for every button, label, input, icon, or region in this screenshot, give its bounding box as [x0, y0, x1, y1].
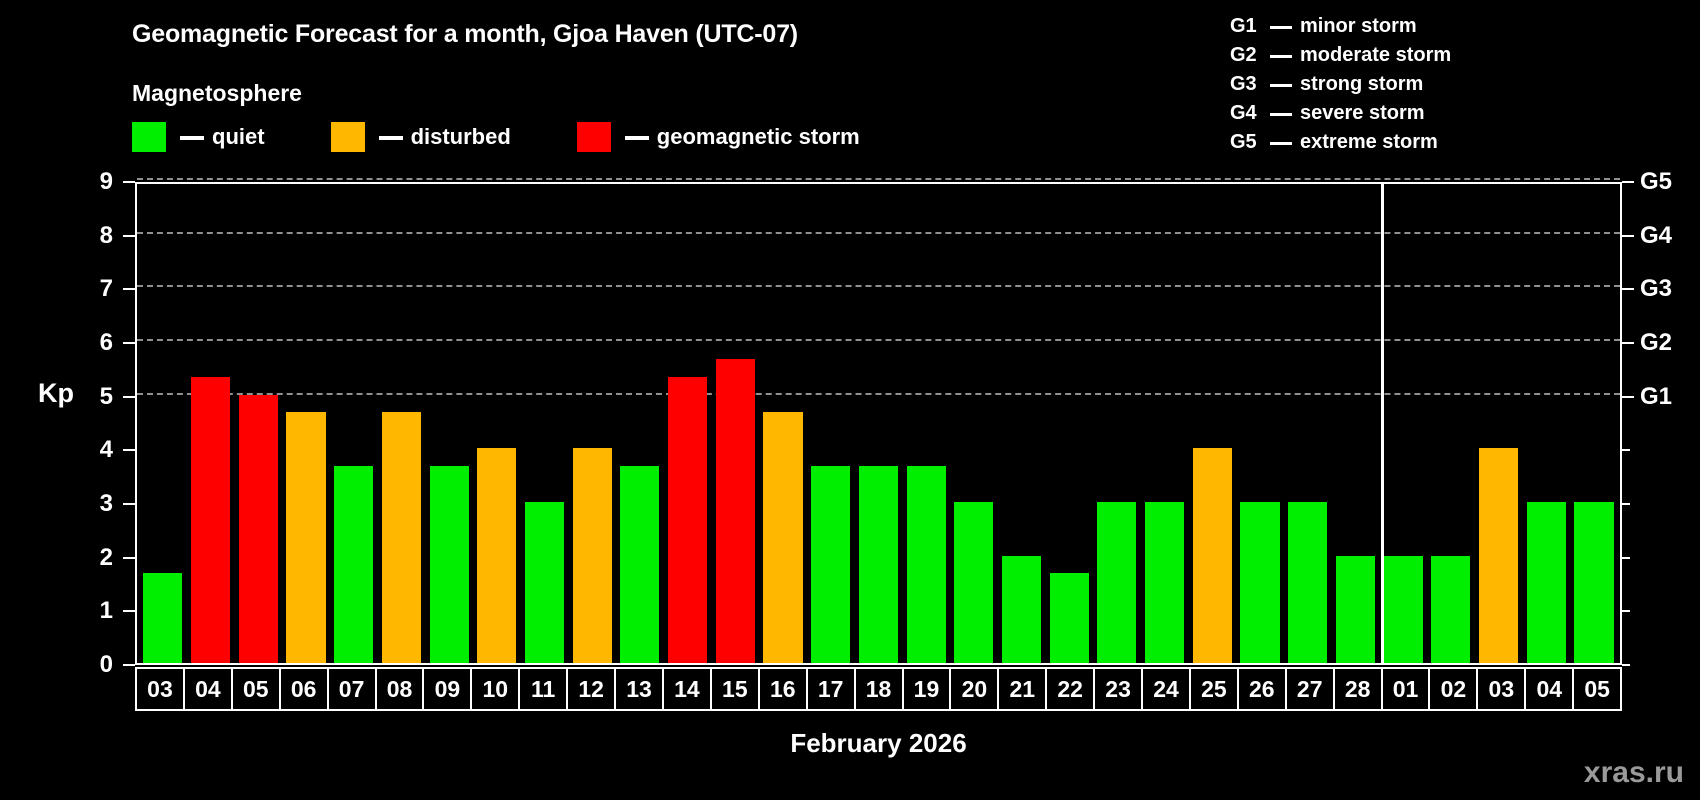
g-scale-legend: G1minor stormG2moderate stormG3strong st…: [1230, 12, 1451, 157]
kp-tick-label: 6: [100, 329, 113, 357]
kp-axis: 0123456789: [0, 182, 135, 665]
gscale-code: G4: [1230, 99, 1262, 128]
kp-tick-mark: [123, 664, 135, 666]
bar-slot: [1332, 184, 1380, 663]
g-tick-mark: [1622, 288, 1634, 290]
kp-tick-mark: [123, 449, 135, 451]
storm-swatch: [577, 122, 611, 152]
bar-slot: [1570, 184, 1618, 663]
bar-day-11-8[interactable]: [525, 502, 564, 663]
gscale-dash-icon: [1270, 142, 1292, 145]
bar-day-06-3[interactable]: [286, 412, 325, 663]
bar-day-23-20[interactable]: [1097, 502, 1136, 663]
bar-slot: [998, 184, 1046, 663]
date-label-12-9[interactable]: 12: [566, 667, 616, 711]
date-label-25-22[interactable]: 25: [1189, 667, 1239, 711]
date-label-22-19[interactable]: 22: [1045, 667, 1095, 711]
bar-day-08-5[interactable]: [382, 412, 421, 663]
bar-day-12-9[interactable]: [573, 448, 612, 663]
gscale-row-g1: G1minor storm: [1230, 12, 1451, 41]
kp-tick-label: 5: [100, 383, 113, 411]
g-tick-mark: [1622, 449, 1630, 451]
date-label-26-23[interactable]: 26: [1237, 667, 1287, 711]
bar-slot: [330, 184, 378, 663]
gscale-description: extreme storm: [1300, 128, 1438, 157]
date-axis: 0304050607080910111213141516171819202122…: [135, 667, 1622, 711]
g-tick-mark: [1622, 181, 1634, 183]
plot-area: [135, 182, 1622, 665]
g-tick-label: G3: [1640, 275, 1672, 303]
legend-dash-icon: [379, 136, 403, 140]
chart-subtitle: Magnetosphere: [132, 80, 302, 107]
page-title: Geomagnetic Forecast for a month, Gjoa H…: [132, 20, 798, 49]
kp-tick-label: 2: [100, 544, 113, 572]
kp-tick-mark: [123, 342, 135, 344]
gscale-dash-icon: [1270, 55, 1292, 58]
date-label-02-27[interactable]: 02: [1428, 667, 1478, 711]
date-label-04-1[interactable]: 04: [183, 667, 233, 711]
kp-tick-mark: [123, 503, 135, 505]
legend-dash-icon: [180, 136, 204, 140]
gscale-code: G5: [1230, 128, 1262, 157]
bar-slot: [1522, 184, 1570, 663]
bar-day-26-23[interactable]: [1240, 502, 1279, 663]
date-label-11-8[interactable]: 11: [518, 667, 568, 711]
kp-tick-mark: [123, 557, 135, 559]
month-divider: [1381, 184, 1384, 663]
kp-tick-label: 3: [100, 490, 113, 518]
date-label-01-26[interactable]: 01: [1381, 667, 1431, 711]
legend-item-quiet: quiet: [132, 122, 265, 152]
bar-slot: [1379, 184, 1427, 663]
g-tick-label: G1: [1640, 383, 1672, 411]
bar-slot: [902, 184, 950, 663]
date-label-03-28[interactable]: 03: [1476, 667, 1526, 711]
gscale-row-g2: G2moderate storm: [1230, 41, 1451, 70]
bar-slot: [616, 184, 664, 663]
kp-tick-mark: [123, 396, 135, 398]
legend-dash-icon: [625, 136, 649, 140]
bar-slot: [1093, 184, 1141, 663]
kp-tick-label: 9: [100, 168, 113, 196]
legend-item-geomagnetic-storm: geomagnetic storm: [577, 122, 860, 152]
bar-day-27-24[interactable]: [1288, 502, 1327, 663]
bar-day-18-15[interactable]: [859, 466, 898, 663]
date-label-21-18[interactable]: 21: [997, 667, 1047, 711]
gscale-dash-icon: [1270, 84, 1292, 87]
bar-day-04-29[interactable]: [1527, 502, 1566, 663]
bar-slot: [1284, 184, 1332, 663]
bar-day-10-7[interactable]: [477, 448, 516, 663]
gscale-dash-icon: [1270, 113, 1292, 116]
date-label-13-10[interactable]: 13: [614, 667, 664, 711]
date-label-15-12[interactable]: 15: [710, 667, 760, 711]
g-tick-mark: [1622, 342, 1634, 344]
bar-day-05-30[interactable]: [1574, 502, 1613, 663]
g-tick-label: G2: [1640, 329, 1672, 357]
g-tick-label: G5: [1640, 168, 1672, 196]
bar-series: [137, 184, 1620, 663]
gscale-row-g3: G3strong storm: [1230, 70, 1451, 99]
bar-slot: [807, 184, 855, 663]
date-label-14-11[interactable]: 14: [662, 667, 712, 711]
bar-slot: [1188, 184, 1236, 663]
gscale-code: G1: [1230, 12, 1262, 41]
bar-slot: [378, 184, 426, 663]
bar-slot: [1427, 184, 1475, 663]
bar-day-05-2[interactable]: [239, 395, 278, 663]
site-watermark: xras.ru: [1584, 756, 1684, 790]
bar-slot: [1141, 184, 1189, 663]
bar-slot: [568, 184, 616, 663]
bar-day-01-26[interactable]: [1384, 556, 1423, 663]
date-label-03-0[interactable]: 03: [135, 667, 185, 711]
kp-tick-label: 0: [100, 651, 113, 679]
bar-day-20-17[interactable]: [954, 502, 993, 663]
bar-day-22-19[interactable]: [1050, 573, 1089, 663]
gscale-description: minor storm: [1300, 12, 1417, 41]
date-label-06-3[interactable]: 06: [279, 667, 329, 711]
bar-day-24-21[interactable]: [1145, 502, 1184, 663]
bar-day-04-1[interactable]: [191, 377, 230, 663]
bar-slot: [1045, 184, 1093, 663]
bar-day-19-16[interactable]: [907, 466, 946, 663]
kp-tick-label: 4: [100, 436, 113, 464]
date-label-17-14[interactable]: 17: [806, 667, 856, 711]
date-label-07-4[interactable]: 07: [327, 667, 377, 711]
bar-day-25-22[interactable]: [1193, 448, 1232, 663]
kp-tick-mark: [123, 181, 135, 183]
quiet-swatch: [132, 122, 166, 152]
bar-day-13-10[interactable]: [620, 466, 659, 663]
bar-day-02-27[interactable]: [1431, 556, 1470, 663]
date-label-08-5[interactable]: 08: [375, 667, 425, 711]
g-tick-mark: [1622, 503, 1630, 505]
g-tick-label: G4: [1640, 222, 1672, 250]
gscale-row-g5: G5extreme storm: [1230, 128, 1451, 157]
bar-slot: [1236, 184, 1284, 663]
date-label-09-6[interactable]: 09: [422, 667, 472, 711]
legend-label: quiet: [212, 124, 265, 150]
bar-day-07-4[interactable]: [334, 466, 373, 663]
bar-slot: [1475, 184, 1523, 663]
bar-slot: [425, 184, 473, 663]
bar-day-17-14[interactable]: [811, 466, 850, 663]
bar-day-14-11[interactable]: [668, 377, 707, 663]
kp-axis-title: Kp: [38, 378, 74, 409]
kp-tick-mark: [123, 610, 135, 612]
date-label-10-7[interactable]: 10: [470, 667, 520, 711]
bar-day-16-13[interactable]: [763, 412, 802, 663]
chart-root: Geomagnetic Forecast for a month, Gjoa H…: [0, 0, 1700, 800]
g-tick-mark: [1622, 235, 1634, 237]
gscale-description: strong storm: [1300, 70, 1423, 99]
g-tick-mark: [1622, 610, 1630, 612]
bar-slot: [282, 184, 330, 663]
gscale-dash-icon: [1270, 26, 1292, 29]
kp-tick-label: 1: [100, 597, 113, 625]
date-label-18-15[interactable]: 18: [854, 667, 904, 711]
legend-label: disturbed: [411, 124, 511, 150]
bar-slot: [234, 184, 282, 663]
date-label-19-16[interactable]: 19: [902, 667, 952, 711]
bar-slot: [187, 184, 235, 663]
gscale-row-g4: G4severe storm: [1230, 99, 1451, 128]
kp-tick-label: 7: [100, 275, 113, 303]
kp-tick-mark: [123, 235, 135, 237]
bar-slot: [759, 184, 807, 663]
date-label-20-17[interactable]: 20: [949, 667, 999, 711]
g-tick-mark: [1622, 557, 1630, 559]
date-label-27-24[interactable]: 27: [1285, 667, 1335, 711]
kp-tick-label: 8: [100, 222, 113, 250]
bar-day-21-18[interactable]: [1002, 556, 1041, 663]
bar-slot: [664, 184, 712, 663]
bar-day-03-28[interactable]: [1479, 448, 1518, 663]
date-label-05-2[interactable]: 05: [231, 667, 281, 711]
bar-slot: [950, 184, 998, 663]
date-label-04-29[interactable]: 04: [1524, 667, 1574, 711]
date-label-05-30[interactable]: 05: [1572, 667, 1622, 711]
bar-day-03-0[interactable]: [143, 573, 182, 663]
bar-slot: [473, 184, 521, 663]
date-label-28-25[interactable]: 28: [1333, 667, 1383, 711]
g-tick-mark: [1622, 664, 1630, 666]
g-tick-mark: [1622, 396, 1634, 398]
date-label-16-13[interactable]: 16: [758, 667, 808, 711]
bar-slot: [521, 184, 569, 663]
gscale-description: moderate storm: [1300, 41, 1451, 70]
date-label-23-20[interactable]: 23: [1093, 667, 1143, 711]
bar-day-28-25[interactable]: [1336, 556, 1375, 663]
kp-tick-mark: [123, 288, 135, 290]
bar-slot: [855, 184, 903, 663]
legend-item-disturbed: disturbed: [331, 122, 511, 152]
legend-label: geomagnetic storm: [657, 124, 860, 150]
month-label: February 2026: [135, 728, 1622, 759]
bar-slot: [711, 184, 759, 663]
gridline-kp-9: [137, 178, 1620, 180]
gscale-description: severe storm: [1300, 99, 1425, 128]
date-label-24-21[interactable]: 24: [1141, 667, 1191, 711]
bar-day-09-6[interactable]: [430, 466, 469, 663]
magnetosphere-legend: quietdisturbedgeomagnetic storm: [132, 122, 860, 152]
bar-day-15-12[interactable]: [716, 359, 755, 663]
gscale-code: G2: [1230, 41, 1262, 70]
g-scale-axis: G1G2G3G4G5: [1622, 182, 1700, 665]
gscale-code: G3: [1230, 70, 1262, 99]
bar-slot: [139, 184, 187, 663]
disturbed-swatch: [331, 122, 365, 152]
